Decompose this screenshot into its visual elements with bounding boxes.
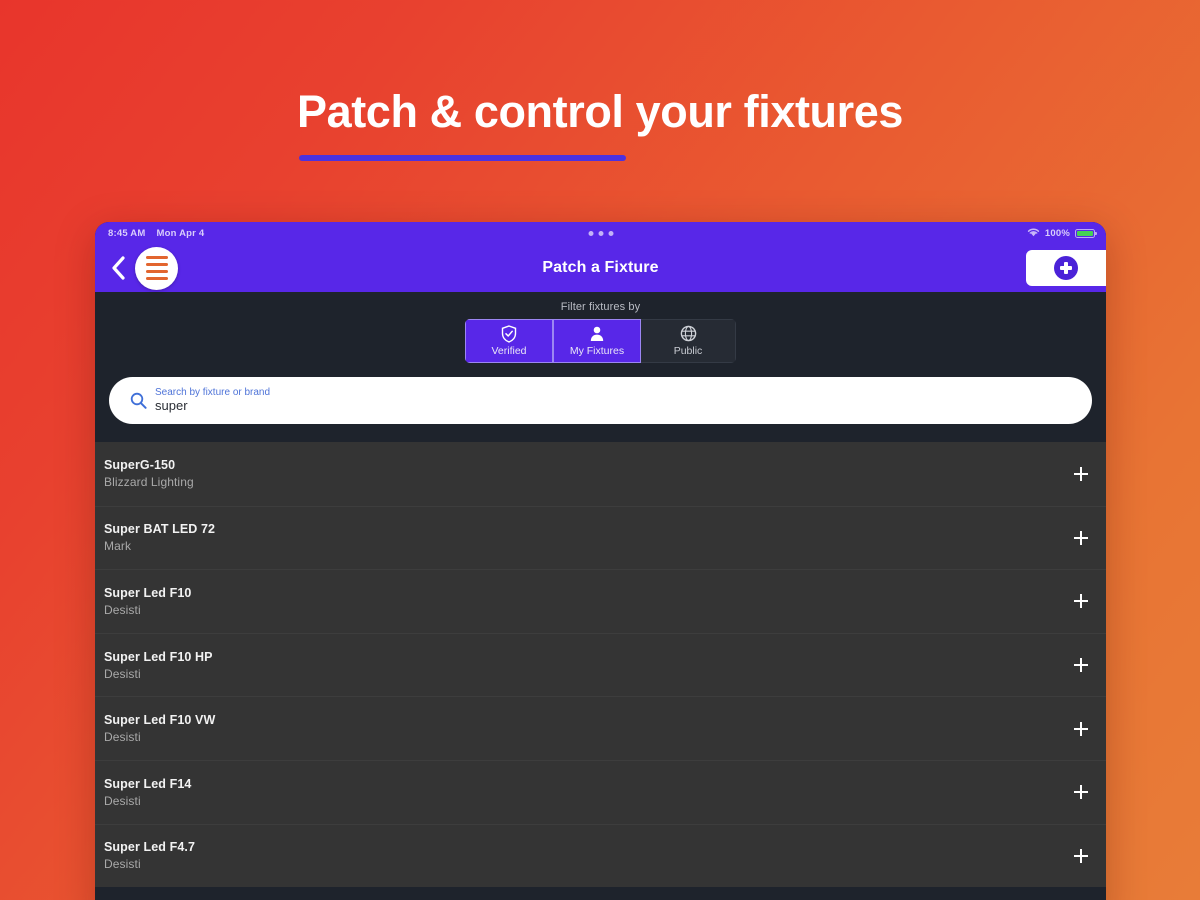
search-field-texts: Search by fixture or brand super <box>155 387 270 414</box>
row-text-group: Super BAT LED 72 Mark <box>104 522 215 553</box>
globe-icon <box>680 325 697 342</box>
app-navigation-bar: Patch a Fixture <box>95 244 1106 292</box>
add-fixture-button[interactable] <box>1026 250 1106 286</box>
fixture-brand: Blizzard Lighting <box>104 475 194 489</box>
row-text-group: Super Led F14 Desisti <box>104 777 191 808</box>
fixture-brand: Desisti <box>104 857 195 871</box>
row-text-group: Super Led F10 VW Desisti <box>104 713 215 744</box>
fixture-brand: Desisti <box>104 667 213 681</box>
row-text-group: Super Led F4.7 Desisti <box>104 840 195 871</box>
fixture-brand: Desisti <box>104 730 215 744</box>
fixture-name: Super Led F4.7 <box>104 840 195 854</box>
add-fixture-row-icon[interactable] <box>1074 594 1088 608</box>
table-row[interactable]: Super Led F4.7 Desisti <box>95 824 1106 888</box>
fixture-name: Super Led F10 VW <box>104 713 215 727</box>
navbar-title: Patch a Fixture <box>542 259 658 277</box>
shield-check-icon <box>501 325 517 342</box>
filter-option-my-fixtures-label: My Fixtures <box>570 345 624 357</box>
fixture-name: Super BAT LED 72 <box>104 522 215 536</box>
search-section: Search by fixture or brand super <box>95 363 1106 442</box>
search-icon <box>127 392 149 409</box>
plus-icon <box>1054 256 1078 280</box>
fixture-brand: Desisti <box>104 794 191 808</box>
table-row[interactable]: Super BAT LED 72 Mark <box>95 506 1106 570</box>
filter-option-verified[interactable]: Verified <box>465 319 553 363</box>
person-icon <box>589 325 605 342</box>
hamburger-logo-icon[interactable] <box>135 247 178 290</box>
add-fixture-row-icon[interactable] <box>1074 722 1088 736</box>
page-title: Patch & control your fixtures <box>297 86 903 141</box>
filter-option-verified-label: Verified <box>491 345 526 357</box>
table-row[interactable]: Super Led F10 Desisti <box>95 569 1106 633</box>
table-row[interactable]: Super Led F14 Desisti <box>95 760 1106 824</box>
fixture-brand: Mark <box>104 539 215 553</box>
tablet-screenshot-frame: 8:45 AM Mon Apr 4 100% Patch a Fixture F… <box>95 222 1106 900</box>
status-bar-right: 100% <box>1027 222 1095 244</box>
add-fixture-row-icon[interactable] <box>1074 531 1088 545</box>
status-bar-left: 8:45 AM Mon Apr 4 <box>95 228 204 239</box>
add-fixture-row-icon[interactable] <box>1074 467 1088 481</box>
add-fixture-row-icon[interactable] <box>1074 658 1088 672</box>
filter-option-my-fixtures[interactable]: My Fixtures <box>553 319 641 363</box>
battery-percent-label: 100% <box>1045 228 1070 239</box>
battery-icon <box>1075 229 1095 238</box>
fixture-name: Super Led F14 <box>104 777 191 791</box>
table-row[interactable]: SuperG-150 Blizzard Lighting <box>95 442 1106 506</box>
fixture-brand: Desisti <box>104 603 191 617</box>
headline-underlined-text: Patch & control <box>297 86 624 141</box>
row-text-group: Super Led F10 HP Desisti <box>104 650 213 681</box>
search-floating-label: Search by fixture or brand <box>155 387 270 399</box>
camera-dots-icon <box>588 222 613 244</box>
back-chevron-icon[interactable] <box>103 256 133 280</box>
filter-option-public[interactable]: Public <box>641 319 736 363</box>
add-fixture-row-icon[interactable] <box>1074 785 1088 799</box>
fixture-name: Super Led F10 HP <box>104 650 213 664</box>
status-date: Mon Apr 4 <box>156 228 204 239</box>
row-text-group: Super Led F10 Desisti <box>104 586 191 617</box>
filter-section-label: Filter fixtures by <box>95 301 1106 313</box>
wifi-icon <box>1027 227 1040 240</box>
add-fixture-row-icon[interactable] <box>1074 849 1088 863</box>
search-value: super <box>155 399 270 414</box>
headline-rest-text: your fixtures <box>624 86 903 137</box>
filter-option-public-label: Public <box>674 345 703 357</box>
filter-section: Filter fixtures by Verified My Fixtures <box>95 292 1106 363</box>
fixture-name: Super Led F10 <box>104 586 191 600</box>
fixture-results-list: SuperG-150 Blizzard Lighting Super BAT L… <box>95 442 1106 887</box>
status-time: 8:45 AM <box>108 228 145 239</box>
fixture-name: SuperG-150 <box>104 458 194 472</box>
row-text-group: SuperG-150 Blizzard Lighting <box>104 458 194 489</box>
table-row[interactable]: Super Led F10 VW Desisti <box>95 696 1106 760</box>
search-input[interactable]: Search by fixture or brand super <box>109 377 1092 424</box>
table-row[interactable]: Super Led F10 HP Desisti <box>95 633 1106 697</box>
status-bar: 8:45 AM Mon Apr 4 100% <box>95 222 1106 244</box>
filter-segmented-control: Verified My Fixtures Public <box>95 319 1106 363</box>
headline-banner: Patch & control your fixtures <box>0 86 1200 141</box>
